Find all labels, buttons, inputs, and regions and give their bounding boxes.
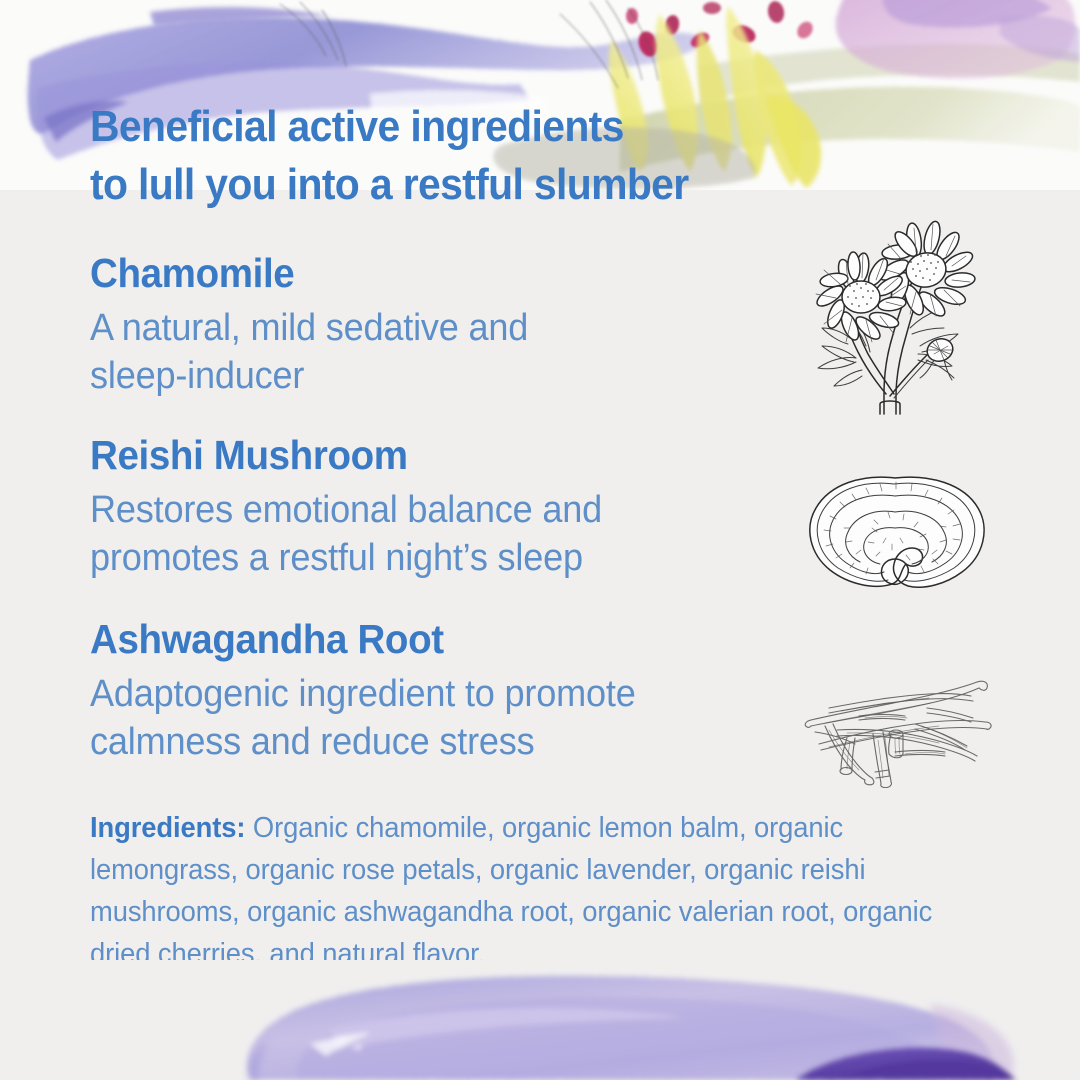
pink-edge-fade — [930, 1004, 1014, 1080]
infographic-page: Beneficial active ingredients to lull yo… — [0, 0, 1080, 1080]
ingredients-list: Ingredients: Organic chamomile, organic … — [90, 808, 964, 976]
reishi-mushroom-illustration — [800, 468, 990, 608]
ingredient-name-chamomile: Chamomile — [90, 252, 748, 295]
pink-floral-wash — [836, 0, 1080, 79]
green-leaf-strokes — [280, 0, 658, 88]
ingredient-section-reishi: Reishi Mushroom Restores emotional balan… — [90, 434, 790, 583]
ingredients-label: Ingredients: — [90, 812, 245, 844]
ingredient-description-reishi: Restores emotional balance and promotes … — [90, 487, 755, 583]
page-title: Beneficial active ingredients to lull yo… — [90, 98, 834, 214]
violet-swoosh — [796, 1048, 1016, 1080]
ingredient-section-ashwagandha: Ashwagandha Root Adaptogenic ingredient … — [90, 618, 790, 767]
left-edge-fade — [248, 1038, 268, 1080]
lavender-blob — [247, 976, 995, 1080]
chamomile-flower-illustration — [800, 218, 980, 418]
ingredient-name-reishi: Reishi Mushroom — [90, 434, 748, 477]
ingredient-description-ashwagandha: Adaptogenic ingredient to promote calmne… — [90, 671, 755, 767]
magenta-petal-dots — [626, 0, 816, 59]
bottom-watercolor-decoration — [0, 960, 1080, 1080]
ingredient-section-chamomile: Chamomile A natural, mild sedative and s… — [90, 252, 790, 401]
root-sticks — [805, 681, 991, 787]
ingredient-description-chamomile: A natural, mild sedative and sleep-induc… — [90, 305, 755, 401]
ashwagandha-root-illustration — [795, 668, 995, 788]
ingredient-name-ashwagandha: Ashwagandha Root — [90, 618, 748, 661]
